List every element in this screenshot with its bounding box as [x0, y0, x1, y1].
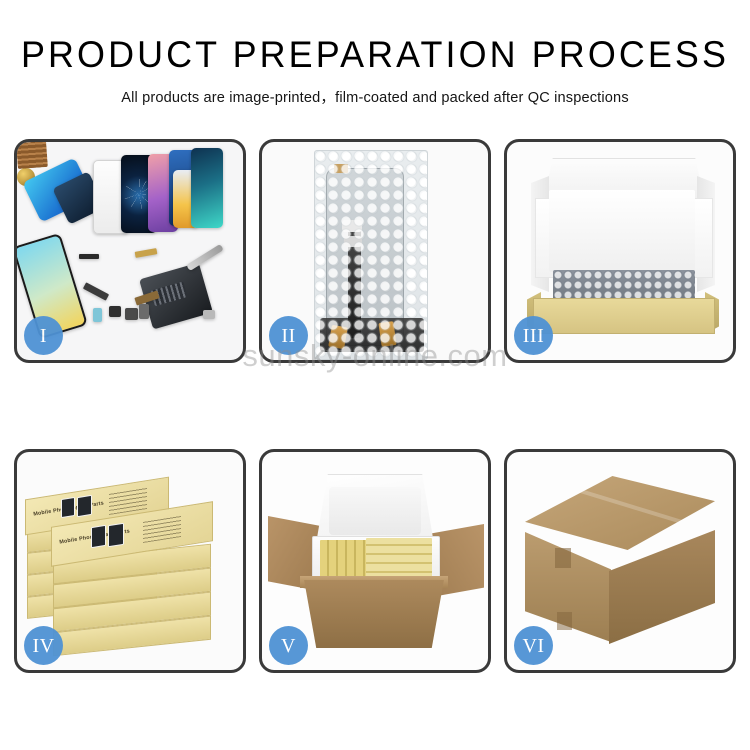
phone-display-teal-icon — [191, 148, 223, 228]
screw-set-icon — [203, 310, 215, 319]
step-badge-2: II — [269, 316, 308, 355]
step-badge-6: VI — [514, 626, 553, 665]
process-step-card-3: III — [504, 139, 736, 363]
foam-sheet-icon — [549, 190, 695, 272]
chip-grid-icon — [17, 142, 48, 169]
tape-tab-icon — [334, 164, 348, 173]
step-badge-4: IV — [24, 626, 63, 665]
carton-tape-lower-icon — [557, 612, 572, 630]
connector-lower-icon — [344, 236, 362, 247]
step-badge-3: III — [514, 316, 553, 355]
carton-top-face-icon — [525, 476, 715, 550]
step-badge-1: I — [24, 316, 63, 355]
flex-cable-dark-icon — [83, 282, 109, 300]
tweezers-icon — [186, 244, 224, 271]
flex-cable-icon — [79, 254, 99, 259]
battery-connector-icon — [93, 308, 102, 322]
process-step-card-1: I — [14, 139, 246, 363]
carton-body-icon — [298, 580, 450, 648]
vibrator-module-icon — [125, 308, 138, 320]
top-box-front-screen-2 — [108, 523, 124, 548]
process-step-card-2: II — [259, 139, 491, 363]
connector-upper-icon — [342, 220, 362, 232]
header: PRODUCT PREPARATION PROCESS All products… — [0, 0, 750, 107]
process-steps-grid: I II — [14, 139, 736, 673]
carton-tape-upper-icon — [555, 548, 571, 568]
process-step-card-6: VI — [504, 449, 736, 673]
page-subtitle: All products are image-printed，film-coat… — [0, 86, 750, 107]
sim-tray-icon — [139, 304, 149, 319]
product-preparation-infographic: PRODUCT PREPARATION PROCESS All products… — [0, 0, 750, 750]
yellow-boxes-row-2 — [366, 538, 432, 580]
gold-contact-right-icon — [378, 321, 396, 347]
process-step-card-4: Mobile Phone Spare Parts Mobile Phone Sp… — [14, 449, 246, 673]
top-box-rear-screen-1 — [61, 497, 75, 518]
step-badge-5: V — [269, 626, 308, 665]
page-title: PRODUCT PREPARATION PROCESS — [11, 36, 739, 75]
process-step-card-5: V — [259, 449, 491, 673]
box-front-panel-icon — [533, 298, 715, 334]
foam-box-lid-icon — [316, 474, 434, 544]
camera-module-icon — [109, 306, 121, 317]
top-box-rear-screen-2 — [77, 495, 92, 517]
flex-cable-gold-icon — [135, 248, 158, 258]
top-box-front-screen-1 — [91, 525, 106, 548]
